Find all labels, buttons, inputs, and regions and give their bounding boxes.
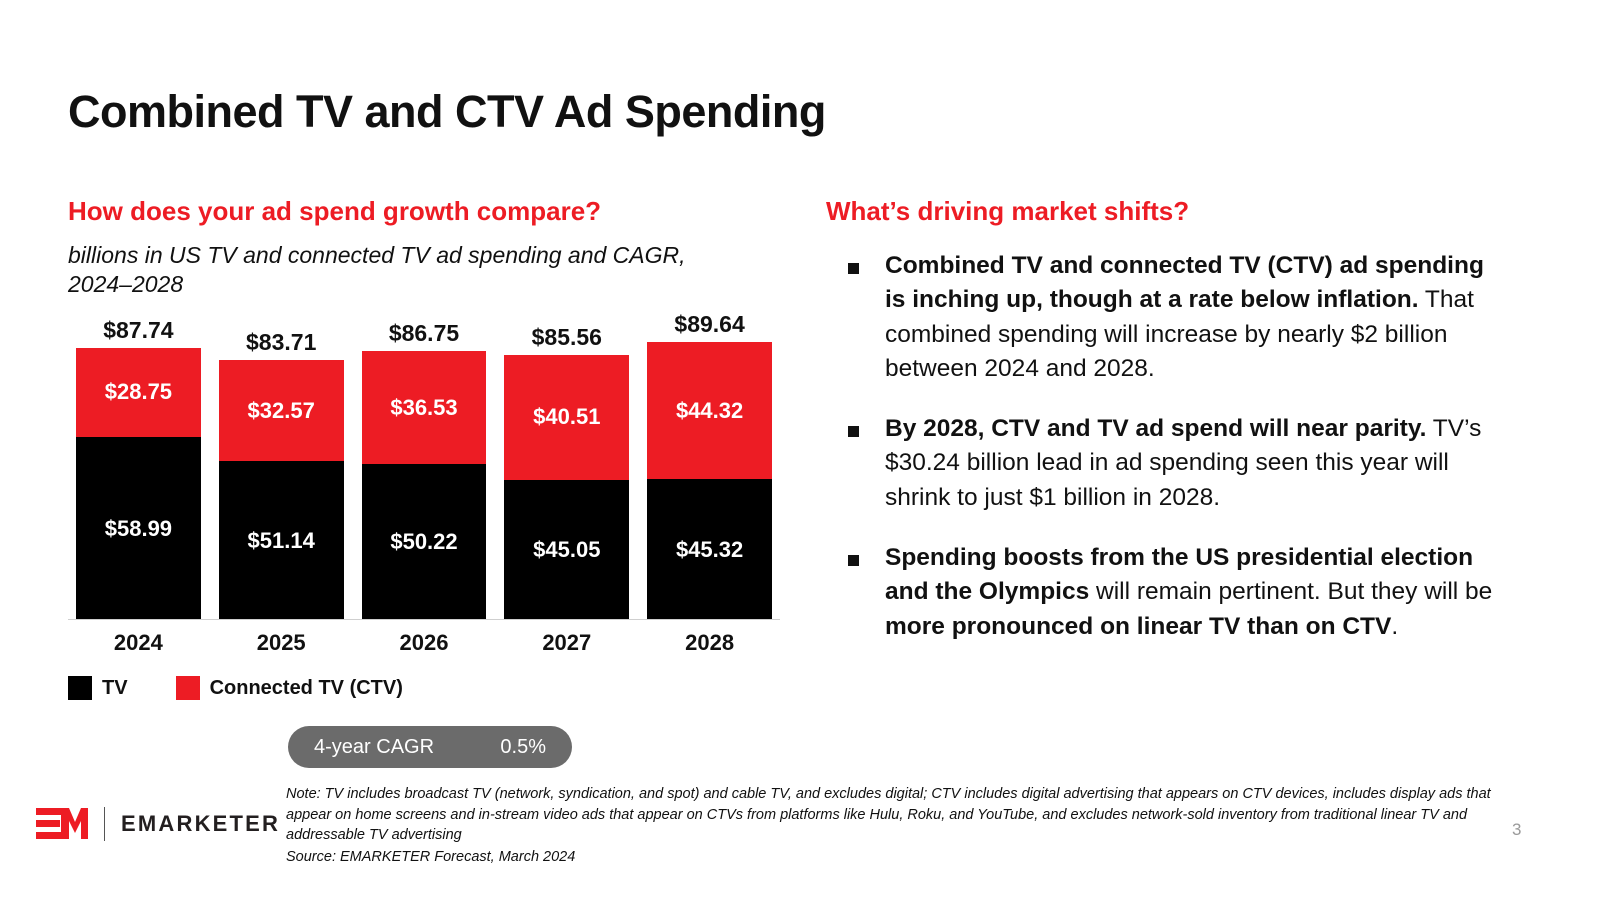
bar-segment-ctv: $32.57 (219, 360, 344, 461)
bar-total-label: $86.75 (362, 320, 487, 347)
page-number: 3 (1512, 820, 1521, 840)
bar-column-2025: $83.71$32.57$51.14 (219, 312, 344, 620)
cagr-badge: 4-year CAGR 0.5% (288, 726, 572, 768)
x-axis-label-2026: 2026 (362, 630, 487, 656)
bullet-item: By 2028, CTV and TV ad spend will near p… (826, 412, 1526, 515)
logo-divider (104, 807, 105, 841)
bar-segment-label-ctv: $44.32 (676, 398, 743, 424)
insight-bullet-list: Combined TV and connected TV (CTV) ad sp… (826, 249, 1526, 644)
bar-segment-label-tv: $45.32 (676, 537, 743, 563)
bar-column-2027: $85.56$40.51$45.05 (504, 312, 629, 620)
left-section-heading: How does your ad spend growth compare? (68, 196, 798, 227)
x-axis-label-2025: 2025 (219, 630, 344, 656)
bar-segment-label-ctv: $28.75 (105, 379, 172, 405)
bar-total-label: $89.64 (647, 311, 772, 338)
emarketer-em-mark-icon (36, 806, 88, 842)
bar-segment-label-tv: $50.22 (390, 529, 457, 555)
legend-label-tv: TV (102, 677, 128, 700)
bar-total-label: $85.56 (504, 324, 629, 351)
chart-subtitle: billions in US TV and connected TV ad sp… (68, 241, 708, 300)
bullet-square-icon (848, 263, 859, 274)
x-axis-line (68, 619, 780, 620)
bar-segment-label-tv: $51.14 (248, 528, 315, 554)
right-section-heading: What’s driving market shifts? (826, 196, 1526, 227)
left-column: How does your ad spend growth compare? b… (68, 196, 798, 300)
slide: Combined TV and CTV Ad Spending How does… (0, 0, 1600, 900)
bullet-square-icon (848, 555, 859, 566)
bullet-emphasis: more pronounced on linear TV than on CTV (885, 613, 1391, 640)
bar-segment-label-ctv: $32.57 (248, 398, 315, 424)
bar-segment-ctv: $40.51 (504, 355, 629, 481)
bar-segment-label-tv: $58.99 (105, 516, 172, 542)
emarketer-logo: EMARKETER (36, 806, 280, 842)
footnote-source: Source: EMARKETER Forecast, March 2024 (286, 847, 1496, 868)
bar-segment-ctv: $28.75 (76, 348, 201, 437)
bar-segment-ctv: $44.32 (647, 342, 772, 479)
bullet-square-icon (848, 426, 859, 437)
bar-segment-label-tv: $45.05 (533, 537, 600, 563)
bar-segment-tv: $51.14 (219, 461, 344, 620)
bullet-body: . (1391, 613, 1398, 640)
bar-column-2024: $87.74$28.75$58.99 (76, 312, 201, 620)
bar-segment-label-ctv: $36.53 (390, 395, 457, 421)
bar-column-2028: $89.64$44.32$45.32 (647, 312, 772, 620)
bar-segment-tv: $45.32 (647, 479, 772, 620)
page-title: Combined TV and CTV Ad Spending (68, 86, 826, 138)
x-axis-label-2024: 2024 (76, 630, 201, 656)
chart-bars: $87.74$28.75$58.99$83.71$32.57$51.14$86.… (76, 312, 772, 620)
bar-segment-ctv: $36.53 (362, 351, 487, 464)
tv-swatch-icon (68, 676, 92, 700)
bullet-text: Spending boosts from the US presidential… (885, 541, 1495, 644)
stacked-bar-chart: $87.74$28.75$58.99$83.71$32.57$51.14$86.… (68, 312, 780, 656)
bar-segment-label-ctv: $40.51 (533, 404, 600, 430)
chart-legend: TV Connected TV (CTV) (68, 676, 403, 700)
bar-column-2026: $86.75$36.53$50.22 (362, 312, 487, 620)
cagr-label: 4-year CAGR (314, 736, 434, 759)
x-axis-label-2027: 2027 (504, 630, 629, 656)
bullet-text: Combined TV and connected TV (CTV) ad sp… (885, 249, 1495, 386)
x-axis-labels: 20242025202620272028 (68, 630, 780, 656)
logo-wordmark: EMARKETER (121, 811, 280, 837)
chart-plot-area: $87.74$28.75$58.99$83.71$32.57$51.14$86.… (68, 312, 780, 620)
bullet-text: By 2028, CTV and TV ad spend will near p… (885, 412, 1495, 515)
bullet-body: will remain pertinent. But they will be (1089, 578, 1492, 605)
bar-total-label: $83.71 (219, 329, 344, 356)
ctv-swatch-icon (176, 676, 200, 700)
bar-segment-tv: $50.22 (362, 464, 487, 620)
legend-label-ctv: Connected TV (CTV) (210, 677, 403, 700)
x-axis-label-2028: 2028 (647, 630, 772, 656)
right-column: What’s driving market shifts? Combined T… (826, 196, 1526, 670)
footnote-note: Note: TV includes broadcast TV (network,… (286, 784, 1496, 846)
bullet-item: Spending boosts from the US presidential… (826, 541, 1526, 644)
bullet-emphasis: By 2028, CTV and TV ad spend will near p… (885, 415, 1426, 442)
bar-segment-tv: $58.99 (76, 437, 201, 620)
legend-item-tv: TV (68, 676, 128, 700)
bar-segment-tv: $45.05 (504, 480, 629, 620)
bar-total-label: $87.74 (76, 317, 201, 344)
bullet-emphasis: Combined TV and connected TV (CTV) ad sp… (885, 252, 1484, 313)
cagr-value: 0.5% (500, 736, 546, 759)
legend-item-ctv: Connected TV (CTV) (176, 676, 403, 700)
bullet-item: Combined TV and connected TV (CTV) ad sp… (826, 249, 1526, 386)
footnote: Note: TV includes broadcast TV (network,… (286, 784, 1496, 867)
